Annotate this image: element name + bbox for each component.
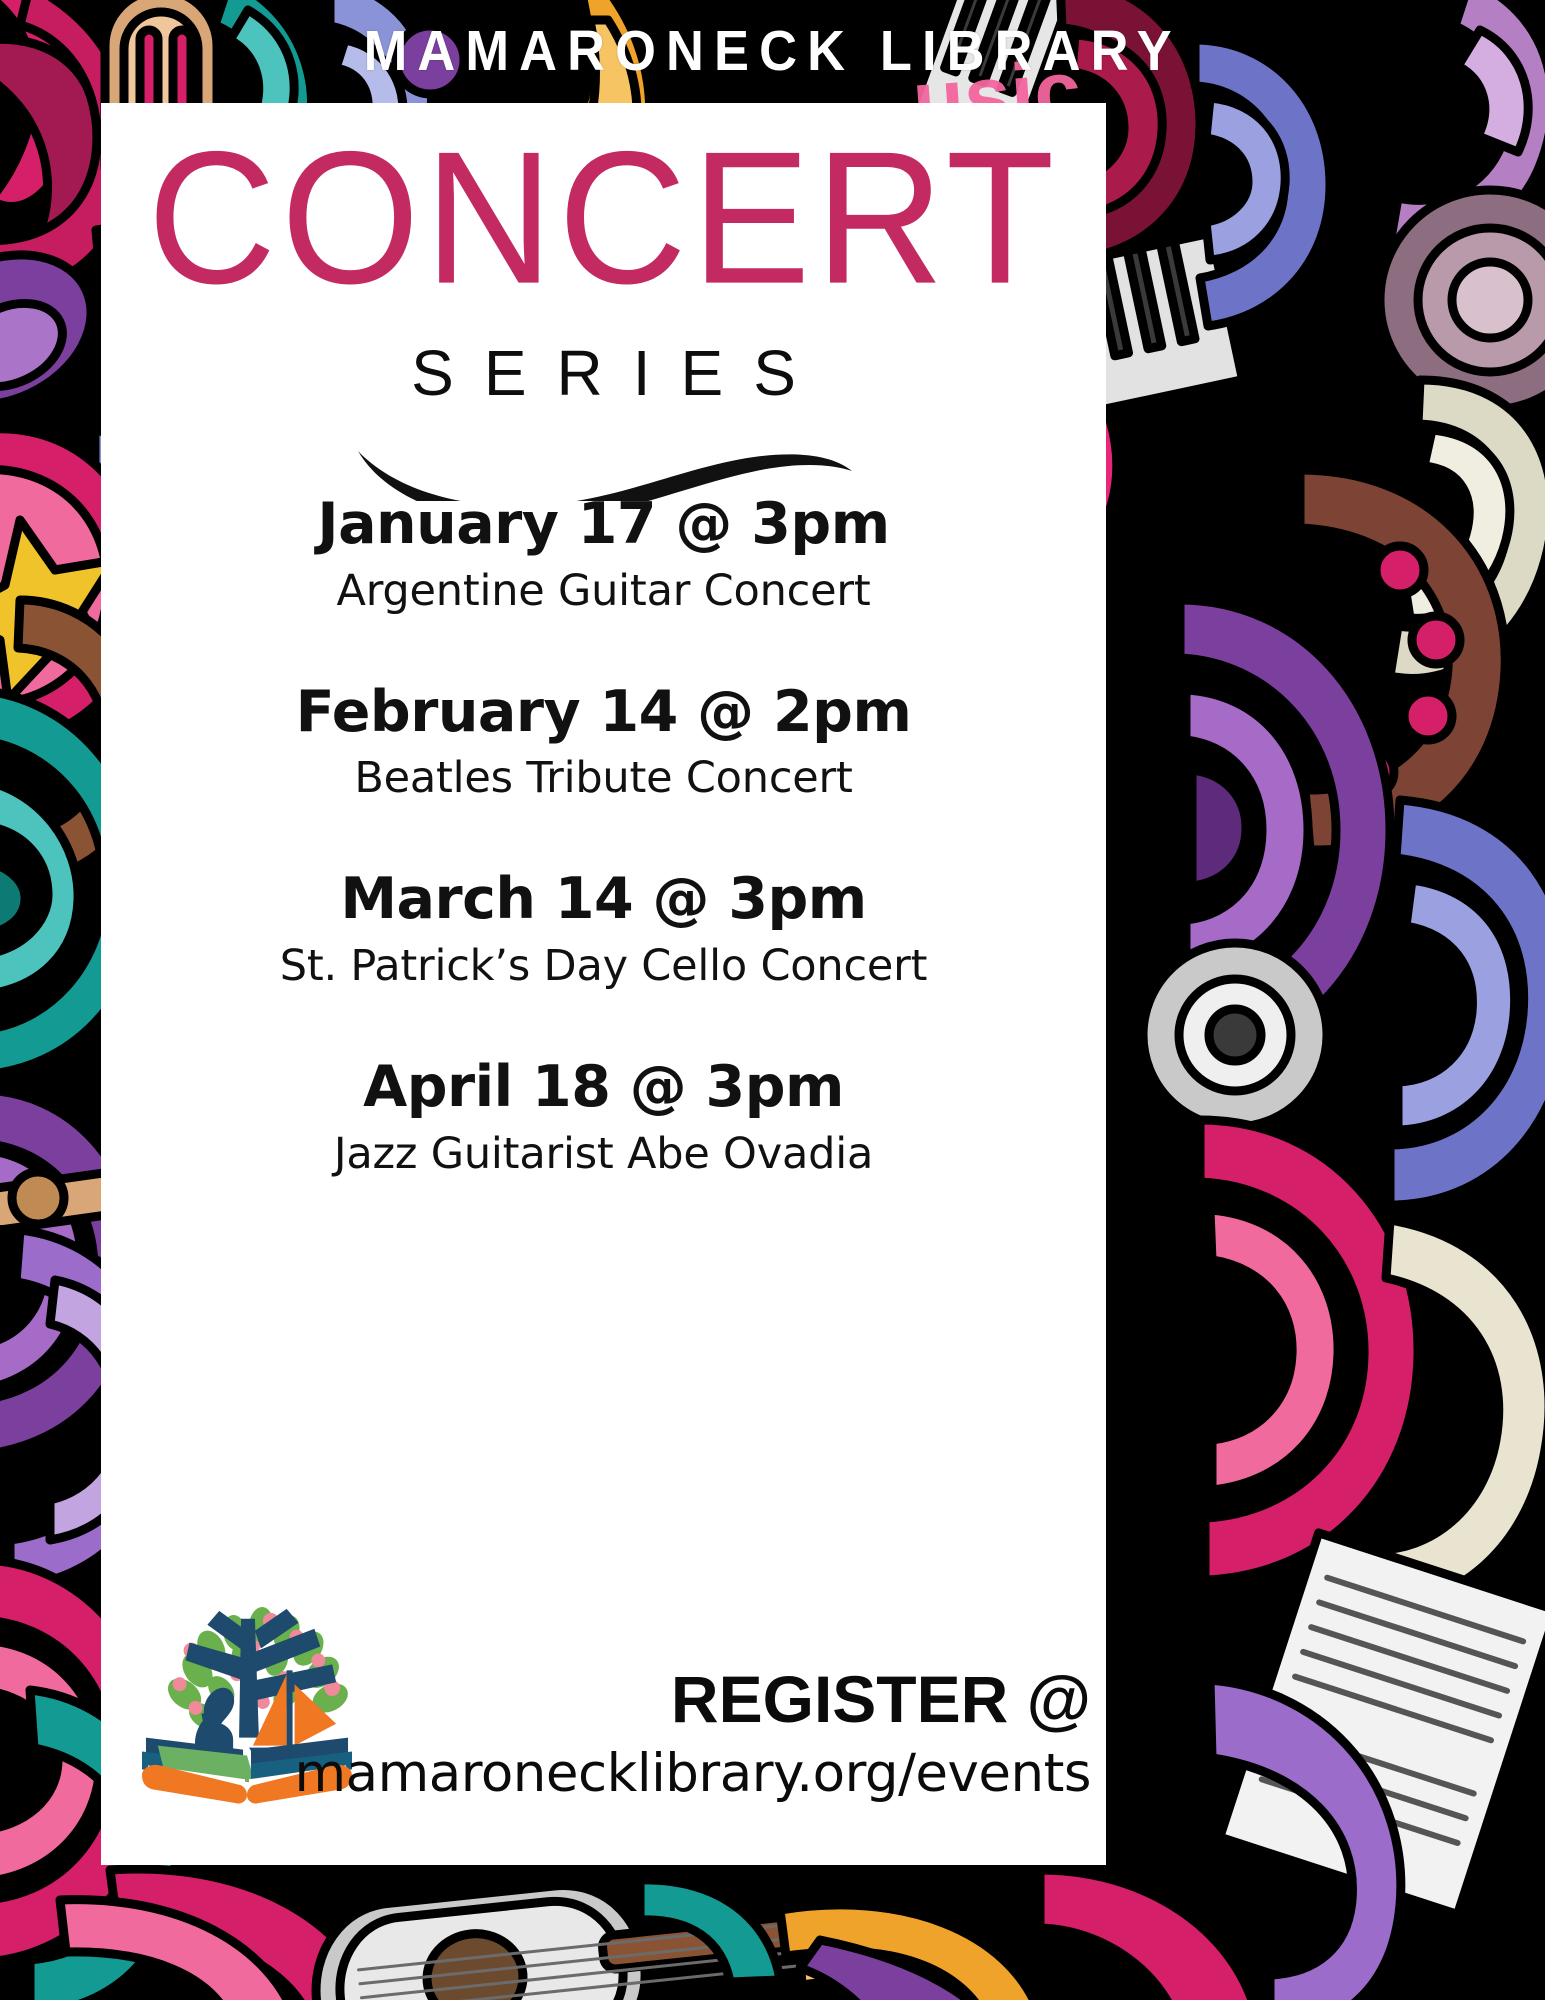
event-title: Beatles Tribute Concert: [101, 752, 1106, 806]
event-date: April 18 @ 3pm: [101, 1056, 1106, 1120]
title-block: CONCERT SERIES: [101, 103, 1106, 501]
event-title: St. Patrick’s Day Cello Concert: [101, 940, 1106, 994]
register-label: REGISTER @: [271, 1666, 1091, 1732]
poster-card: CONCERT SERIES January 17 @ 3pm Argentin…: [101, 103, 1106, 1865]
event-date: March 14 @ 3pm: [101, 868, 1106, 932]
page-subtitle: SERIES: [101, 341, 1106, 405]
events-list: January 17 @ 3pm Argentine Guitar Concer…: [101, 493, 1106, 1181]
event-item: January 17 @ 3pm Argentine Guitar Concer…: [101, 493, 1106, 619]
event-title: Argentine Guitar Concert: [101, 565, 1106, 619]
event-date: January 17 @ 3pm: [101, 493, 1106, 557]
event-item: February 14 @ 2pm Beatles Tribute Concer…: [101, 681, 1106, 807]
footer-area: REGISTER @ mamaronecklibrary.org/events: [101, 1545, 1106, 1865]
register-block: REGISTER @ mamaronecklibrary.org/events: [271, 1666, 1091, 1805]
event-date: February 14 @ 2pm: [101, 681, 1106, 745]
event-item: March 14 @ 3pm St. Patrick’s Day Cello C…: [101, 868, 1106, 994]
event-item: April 18 @ 3pm Jazz Guitarist Abe Ovadia: [101, 1056, 1106, 1182]
event-title: Jazz Guitarist Abe Ovadia: [101, 1128, 1106, 1182]
register-url[interactable]: mamaronecklibrary.org/events: [271, 1744, 1091, 1805]
concert-series-poster: usic MAMARONECK LIBRARY CONCERT SERIES J…: [0, 0, 1545, 2000]
page-title: CONCERT: [101, 124, 1106, 313]
